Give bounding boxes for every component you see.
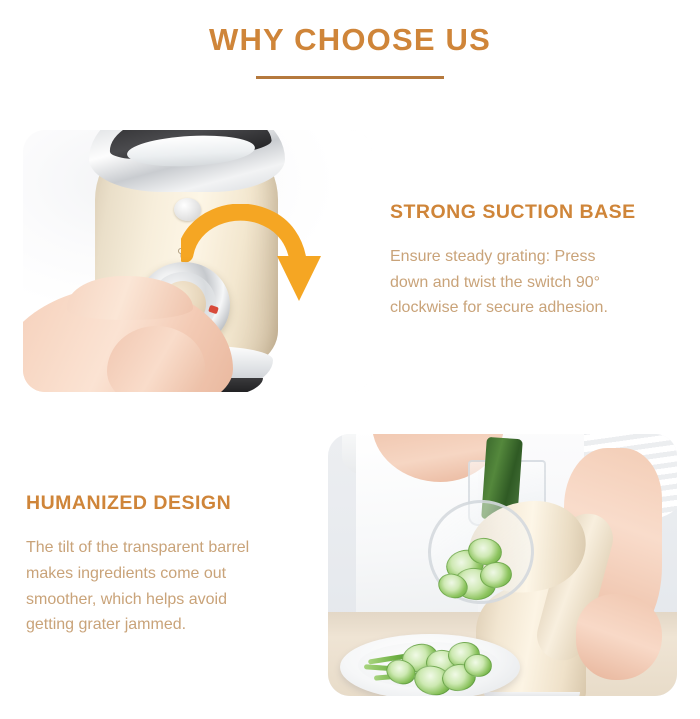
suction-base-text-column: STRONG SUCTION BASE Ensure steady gratin… xyxy=(372,201,677,322)
person-right-hand xyxy=(576,594,662,680)
page-title: WHY CHOOSE US xyxy=(0,22,700,58)
body-line: clockwise for secure adhesion. xyxy=(390,295,667,321)
feature-body-humanized-design: The tilt of the transparent barrel makes… xyxy=(26,535,298,639)
grater-base-foot xyxy=(484,692,580,696)
feature-humanized-design: HUMANIZED DESIGN The tilt of the transpa… xyxy=(23,434,677,696)
suction-base-photo: ⚲ xyxy=(23,130,372,392)
humanized-design-photo xyxy=(328,434,677,696)
feature-heading-strong-suction-base: STRONG SUCTION BASE xyxy=(390,201,667,224)
feature-body-strong-suction-base: Ensure steady grating: Press down and tw… xyxy=(390,244,667,322)
feature-heading-humanized-design: HUMANIZED DESIGN xyxy=(26,492,298,515)
body-line: Ensure steady grating: Press xyxy=(390,244,667,270)
body-line: makes ingredients come out xyxy=(26,561,298,587)
title-underline-rule xyxy=(256,76,444,79)
humanized-design-text-column: HUMANIZED DESIGN The tilt of the transpa… xyxy=(23,492,328,639)
body-line: The tilt of the transparent barrel xyxy=(26,535,298,561)
body-line: down and twist the switch 90° xyxy=(390,270,667,296)
body-line: smoother, which helps avoid xyxy=(26,587,298,613)
body-line: getting grater jammed. xyxy=(26,612,298,638)
feature-strong-suction-base: ⚲ STRONG SUCTION BASE Ensure steady grat… xyxy=(23,130,677,392)
